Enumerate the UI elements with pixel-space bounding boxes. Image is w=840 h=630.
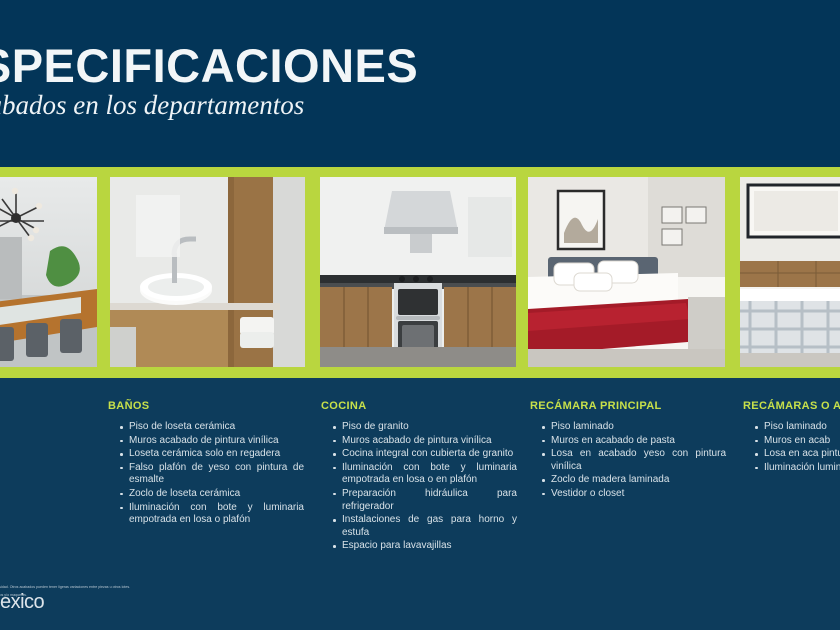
photo-master-bedroom-image	[528, 177, 725, 367]
photo-bathroom	[110, 177, 305, 367]
disclaimer-line: natural están sujetos a variación de col…	[0, 584, 334, 590]
page-subtitle: Acabados en los departamentos	[0, 92, 304, 119]
list-item: Espacio para lavavajillas	[333, 540, 517, 553]
list-item: Muros en acab	[755, 435, 840, 448]
list-item: Iluminación luminaria emp plafón	[755, 462, 840, 475]
photo-secondary-bedroom	[740, 177, 840, 367]
column-heading-banos: BAÑOS	[108, 400, 304, 412]
column-list-recamaras-o-a: Piso laminado Muros en acab Losa en aca …	[743, 421, 840, 474]
list-item: mpotrada en	[0, 454, 94, 467]
list-item: Muros acabado de pintura vinílica	[120, 435, 304, 448]
slide-header: ESPECIFICACIONES Acabados en los departa…	[0, 0, 840, 167]
column-list: ado de pasta bado yeso con ra laminada c…	[0, 400, 94, 467]
column-heading-recamaras-o-a: RECÁMARAS O A	[743, 400, 840, 412]
spec-column-banos: BAÑOS Piso de loseta cerámica Muros acab…	[108, 378, 304, 528]
column-list-banos: Piso de loseta cerámica Muros acabado de…	[108, 421, 304, 527]
column-heading-cocina: COCINA	[321, 400, 517, 412]
list-item: Zoclo de madera laminada	[542, 474, 726, 487]
disclaimer-text: natural están sujetos a variación de col…	[0, 584, 334, 607]
list-item: con bote y	[0, 441, 94, 454]
column-heading-recamara-principal: RECÁMARA PRINCIPAL	[530, 400, 726, 412]
list-item: Loseta cerámica solo en regadera	[120, 448, 304, 461]
list-item: Piso laminado	[755, 421, 840, 434]
page-title: ESPECIFICACIONES	[0, 42, 418, 89]
list-item: Piso de loseta cerámica	[120, 421, 304, 434]
list-item: Cocina integral con cubierta de granito	[333, 448, 517, 461]
list-item: Preparación hidráulica para refrigerador	[333, 488, 517, 513]
photo-master-bedroom	[528, 177, 725, 367]
spec-column-cocina: COCINA Piso de granito Muros acabado de …	[321, 378, 517, 554]
list-item: Piso de granito	[333, 421, 517, 434]
photo-kitchen-image	[320, 177, 516, 367]
list-item: Muros acabado de pintura vinílica	[333, 435, 517, 448]
specs-columns: ado de pasta bado yeso con ra laminada c…	[0, 378, 840, 583]
list-item: Iluminación con bote y luminaria empotra…	[333, 462, 517, 487]
column-list-recamara-principal: Piso laminado Muros en acabado de pasta …	[530, 421, 726, 501]
watermark-logo: use:Mexico	[0, 591, 44, 614]
list-item: Iluminación con bote y luminaria empotra…	[120, 502, 304, 527]
list-item: ra laminada	[0, 427, 94, 440]
photo-kitchen	[320, 177, 516, 367]
list-item: bado yeso con	[0, 414, 94, 427]
list-item: Losa en aca pintura vini madera lamin	[755, 448, 840, 461]
spec-column-0: ado de pasta bado yeso con ra laminada c…	[0, 378, 94, 468]
spec-column-recamara-principal: RECÁMARA PRINCIPAL Piso laminado Muros e…	[530, 378, 726, 502]
photo-band	[0, 167, 840, 378]
list-item: Instalaciones de gas para horno y estufa	[333, 514, 517, 539]
spec-column-recamaras-o-a: RECÁMARAS O A Piso laminado Muros en aca…	[743, 378, 840, 475]
disclaimer-line: er otra verbal o escrita en folletos, pr…	[0, 592, 334, 598]
photo-bathroom-image	[110, 177, 305, 367]
disclaimer-line: omercial y últimas especificaciones.	[0, 599, 334, 605]
list-item: Piso laminado	[542, 421, 726, 434]
list-item: Muros en acabado de pasta	[542, 435, 726, 448]
photo-dining-room-image	[0, 177, 97, 367]
list-item: ado de pasta	[0, 400, 94, 413]
photo-secondary-bedroom-image	[740, 177, 840, 367]
list-item: Zoclo de loseta cerámica	[120, 488, 304, 501]
photo-dining-room	[0, 177, 97, 367]
list-item: Vestidor o closet	[542, 488, 726, 501]
list-item: Falso plafón de yeso con pintura de esma…	[120, 462, 304, 487]
list-item: Losa en acabado yeso con pintura vinílic…	[542, 448, 726, 473]
slide-footer: natural están sujetos a variación de col…	[0, 583, 840, 630]
column-list-cocina: Piso de granito Muros acabado de pintura…	[321, 421, 517, 553]
